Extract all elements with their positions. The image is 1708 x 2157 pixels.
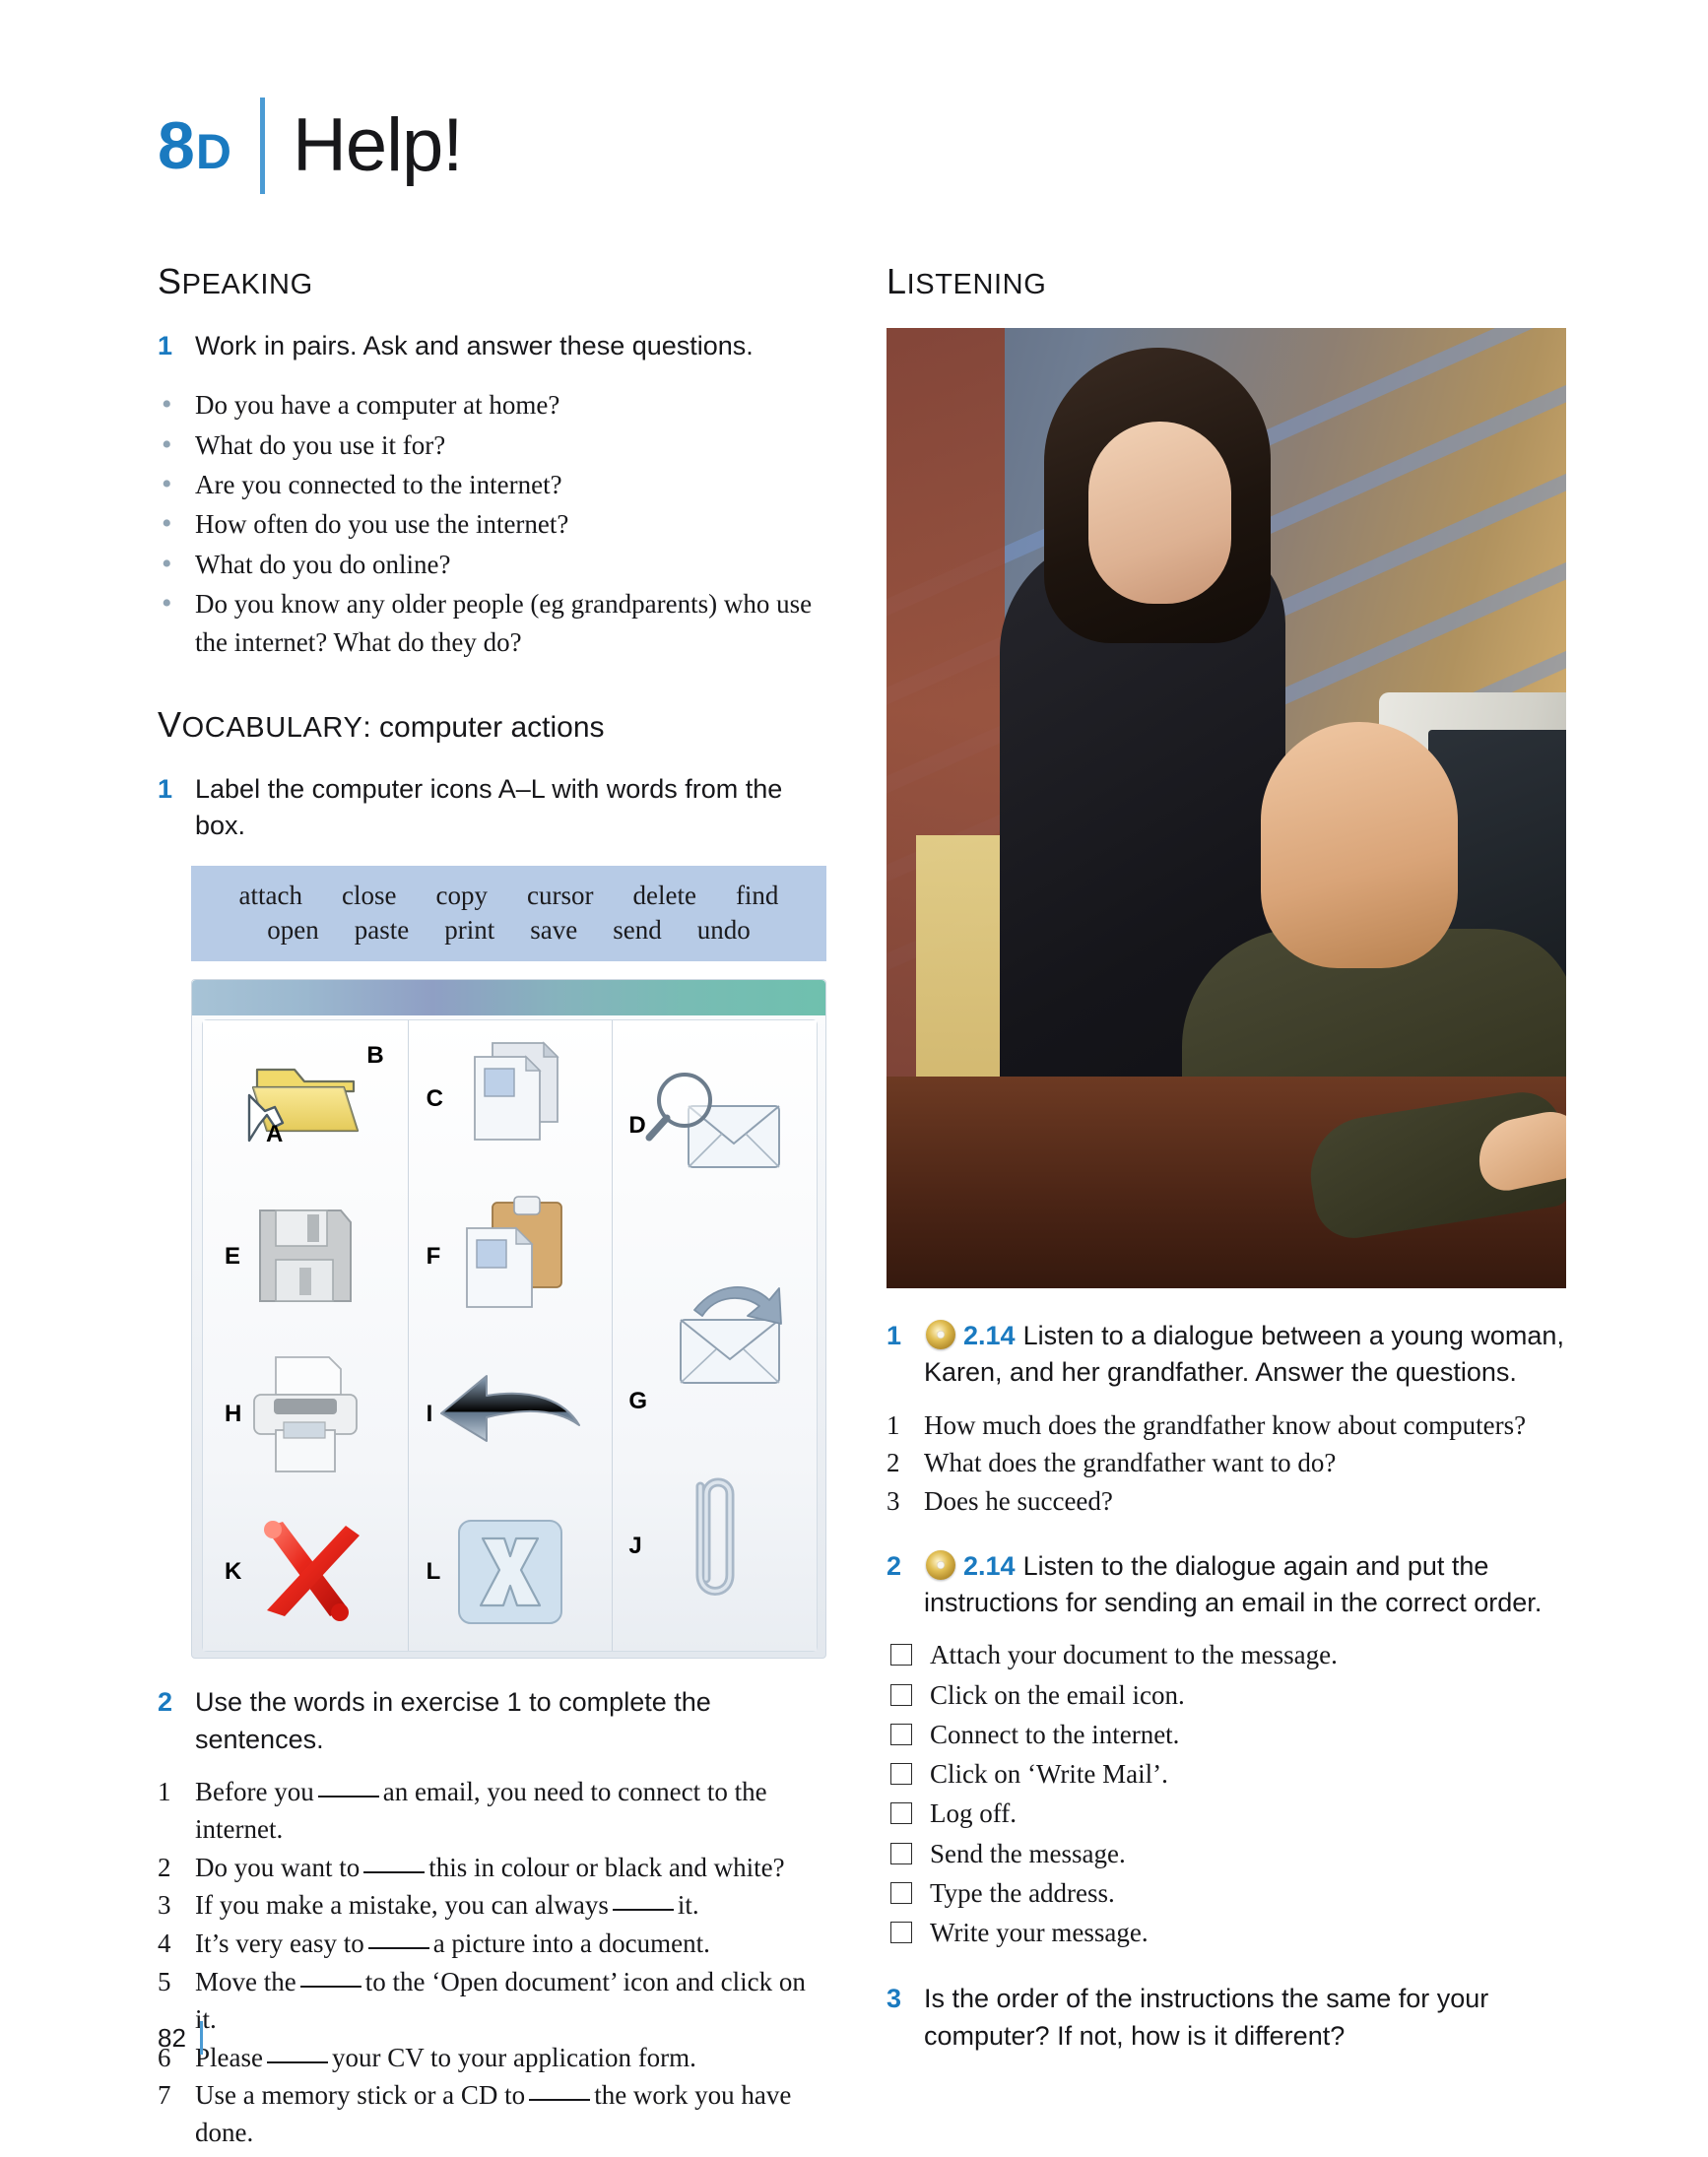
list-item: • Are you connected to the internet?	[158, 466, 827, 503]
icon-letter-G: G	[628, 1388, 647, 1415]
word-chip: attach	[239, 879, 302, 913]
question-text: How often do you use the internet?	[195, 505, 827, 543]
instruction-step-text: Attach your document to the message.	[930, 1637, 1338, 1673]
word-bank-box: attach close copy cursor delete find ope…	[191, 866, 826, 961]
word-bank-row: attach close copy cursor delete find	[191, 879, 826, 913]
question-text: Are you connected to the internet?	[195, 466, 827, 503]
word-chip: delete	[632, 879, 695, 913]
question-text: What do you use it for?	[195, 426, 827, 464]
icon-letter-C: C	[427, 1085, 443, 1113]
icon-letter-K: K	[225, 1558, 241, 1586]
list-item: 4 It’s very easy toa picture into a docu…	[158, 1926, 827, 1963]
item-number: 3	[887, 1483, 924, 1521]
list-item: Log off.	[887, 1796, 1566, 1832]
textbook-page: 8 D Help! SPEAKING 1 Work in pairs. Ask …	[0, 0, 1708, 2157]
bullet-dot-icon: •	[158, 585, 195, 661]
sentence-pre: It’s very easy to	[195, 1928, 364, 1958]
vocabulary-exercise-1: 1 Label the computer icons A–L with word…	[158, 771, 827, 845]
icon-cell-copy: C	[409, 1020, 613, 1178]
word-chip: save	[530, 913, 577, 948]
computer-icons-panel: B A	[191, 979, 826, 1659]
red-cross-delete-icon	[243, 1514, 367, 1630]
item-number: 1	[158, 1774, 195, 1849]
order-checkbox[interactable]	[890, 1724, 912, 1745]
audio-track-number: 2.14	[963, 1551, 1016, 1581]
list-item: Type the address.	[887, 1875, 1566, 1912]
instruction-step-text: Write your message.	[930, 1915, 1149, 1951]
listening-heading-cap: L	[887, 261, 907, 301]
icon-grid: B A	[202, 1019, 818, 1652]
copy-documents-icon	[441, 1037, 579, 1161]
find-envelope-magnifier-icon	[641, 1067, 789, 1185]
word-chip: find	[736, 879, 779, 913]
icon-letter-A: A	[266, 1121, 283, 1148]
list-item: Connect to the internet.	[887, 1717, 1566, 1753]
instruction-step-text: Send the message.	[930, 1836, 1126, 1872]
listening-question-list: 1 How much does the grandfather know abo…	[887, 1407, 1566, 1521]
word-chip: close	[342, 879, 396, 913]
sentence-post: this in colour or black and white?	[428, 1853, 784, 1882]
answer-blank[interactable]	[613, 1894, 674, 1911]
instruction-step-text: Click on the email icon.	[930, 1677, 1185, 1714]
icon-letter-D: D	[628, 1112, 645, 1140]
icon-cell-close-x: L	[409, 1493, 613, 1651]
send-envelope-arrow-icon	[641, 1276, 789, 1395]
answer-blank[interactable]	[363, 1857, 425, 1873]
list-item: Write your message.	[887, 1915, 1566, 1951]
exercise-number: 2	[887, 1548, 924, 1622]
icon-letter-J: J	[628, 1533, 641, 1560]
icon-letter-F: F	[427, 1243, 441, 1271]
audio-cd-icon[interactable]	[926, 1320, 955, 1349]
word-chip: print	[444, 913, 494, 948]
order-checkbox[interactable]	[890, 1843, 912, 1864]
word-chip: open	[267, 913, 318, 948]
paperclip-icon	[671, 1472, 759, 1620]
question-text: Do you have a computer at home?	[195, 386, 827, 424]
bullet-dot-icon: •	[158, 546, 195, 583]
list-item: Attach your document to the message.	[887, 1637, 1566, 1673]
item-number: 4	[158, 1926, 195, 1963]
word-chip: undo	[697, 913, 751, 948]
item-number: 3	[158, 1887, 195, 1925]
list-item: • What do you use it for?	[158, 426, 827, 464]
item-number: 7	[158, 2077, 195, 2152]
icon-column-3: D G	[612, 1020, 817, 1651]
ordering-checkbox-list: Attach your document to the message. Cli…	[887, 1637, 1566, 1951]
right-column: LISTENING 1	[887, 261, 1566, 2070]
folio-rule	[200, 2021, 203, 2055]
list-item: • What do you do online?	[158, 546, 827, 583]
icon-cell-find: D	[613, 1020, 817, 1230]
vocabulary-heading-tail: : computer actions	[362, 711, 604, 744]
question-text: Do you know any older people (eg grandpa…	[195, 585, 827, 661]
list-item: Click on ‘Write Mail’.	[887, 1756, 1566, 1793]
exercise-number: 1	[887, 1318, 924, 1392]
sentence-pre: Use a memory stick or a CD to	[195, 2080, 525, 2110]
word-chip: send	[613, 913, 662, 948]
instruction-step-text: Type the address.	[930, 1875, 1115, 1912]
order-checkbox[interactable]	[890, 1922, 912, 1943]
list-item: • Do you have a computer at home?	[158, 386, 827, 424]
list-item: 1 Before youan email, you need to connec…	[158, 1774, 827, 1849]
icon-cell-folder: B A	[203, 1020, 408, 1178]
answer-blank[interactable]	[368, 1932, 429, 1949]
sentence-pre: Move the	[195, 1967, 296, 1996]
bullet-dot-icon: •	[158, 505, 195, 543]
answer-blank[interactable]	[267, 2047, 328, 2063]
exercise-number: 1	[158, 328, 195, 364]
sentence-post: a picture into a document.	[433, 1928, 710, 1958]
icon-letter-H: H	[225, 1401, 241, 1428]
exercise-number: 1	[158, 771, 195, 845]
fill-in-sentences-list: 1 Before youan email, you need to connec…	[158, 1774, 827, 2152]
list-item: 2 Do you want tothis in colour or black …	[158, 1850, 827, 1887]
question-text: How much does the grandfather know about…	[924, 1407, 1566, 1445]
vocabulary-heading-rest: OCABULARY	[182, 712, 363, 744]
order-checkbox[interactable]	[890, 1882, 912, 1904]
icon-cell-paste: F	[409, 1178, 613, 1336]
list-item: 3 Does he succeed?	[887, 1483, 1566, 1521]
speaking-heading-cap: S	[158, 261, 182, 301]
question-text: What does the grandfather want to do?	[924, 1445, 1566, 1482]
order-checkbox[interactable]	[890, 1802, 912, 1824]
audio-track-number: 2.14	[963, 1321, 1016, 1350]
order-checkbox[interactable]	[890, 1644, 912, 1666]
list-item: 2 What does the grandfather want to do?	[887, 1445, 1566, 1482]
vocabulary-heading-cap: V	[158, 704, 182, 745]
word-chip: cursor	[527, 879, 593, 913]
listening-photo	[887, 328, 1566, 1288]
sentence-pre: Please	[195, 2043, 263, 2072]
list-item: 7 Use a memory stick or a CD tothe work …	[158, 2077, 827, 2152]
answer-blank[interactable]	[529, 2084, 590, 2101]
exercise-number: 3	[887, 1981, 924, 2055]
icon-letter-E: E	[225, 1243, 240, 1271]
question-text: What do you do online?	[195, 546, 827, 583]
vocabulary-exercise-2: 2 Use the words in exercise 1 to complet…	[158, 1684, 827, 1758]
close-x-button-icon	[449, 1513, 571, 1631]
item-number: 2	[887, 1445, 924, 1482]
instruction-step-text: Click on ‘Write Mail’.	[930, 1756, 1168, 1793]
answer-blank[interactable]	[300, 1971, 361, 1988]
unit-number: 8	[158, 107, 194, 184]
icon-column-1: B A	[203, 1020, 408, 1651]
list-item: 1 How much does the grandfather know abo…	[887, 1407, 1566, 1445]
speaking-heading-rest: PEAKING	[182, 269, 313, 300]
instruction-step-text: Log off.	[930, 1796, 1017, 1832]
exercise-instruction: Work in pairs. Ask and answer these ques…	[195, 328, 754, 364]
icon-cell-floppy: E	[203, 1178, 408, 1336]
list-item: • How often do you use the internet?	[158, 505, 827, 543]
listening-heading: LISTENING	[887, 261, 1566, 302]
speaking-exercise-1: 1 Work in pairs. Ask and answer these qu…	[158, 328, 827, 364]
unit-code: 8 D	[158, 107, 230, 184]
left-column: SPEAKING 1 Work in pairs. Ask and answer…	[158, 261, 827, 2153]
list-item: 6 Pleaseyour CV to your application form…	[158, 2040, 827, 2077]
listening-exercise-3: 3 Is the order of the instructions the s…	[887, 1981, 1566, 2055]
photo-woman-face	[1088, 422, 1231, 604]
bullet-dot-icon: •	[158, 466, 195, 503]
bullet-dot-icon: •	[158, 386, 195, 424]
listening-heading-rest: ISTENING	[907, 269, 1047, 300]
open-folder-icon	[231, 1040, 379, 1158]
list-item: Click on the email icon.	[887, 1677, 1566, 1714]
word-chip: copy	[436, 879, 488, 913]
bullet-dot-icon: •	[158, 426, 195, 464]
page-title: Help!	[293, 102, 462, 188]
icon-cell-red-cross: K	[203, 1493, 408, 1651]
undo-arrow-icon	[431, 1360, 589, 1469]
listening-exercise-2: 2 2.14Listen to the dialogue again and p…	[887, 1548, 1566, 1622]
page-header: 8 D Help!	[158, 94, 462, 197]
order-checkbox[interactable]	[890, 1684, 912, 1706]
word-chip: paste	[355, 913, 409, 948]
icon-column-2: C F	[408, 1020, 613, 1651]
exercise-instruction: Is the order of the instructions the sam…	[924, 1981, 1566, 2055]
speaking-question-list: • Do you have a computer at home? • What…	[158, 386, 827, 661]
list-item: Send the message.	[887, 1836, 1566, 1872]
word-bank-row: open paste print save send undo	[191, 913, 826, 948]
icon-letter-L: L	[427, 1558, 441, 1586]
item-number: 1	[887, 1407, 924, 1445]
sentence-post: your CV to your application form.	[332, 2043, 696, 2072]
question-text: Does he succeed?	[924, 1483, 1566, 1521]
header-divider-rule	[260, 98, 265, 194]
exercise-instruction: Use the words in exercise 1 to complete …	[195, 1684, 827, 1758]
sentence-post: it.	[678, 1890, 699, 1920]
exercise-instruction: Listen to the dialogue again and put the…	[924, 1551, 1542, 1617]
list-item: 5 Move theto the ‘Open document’ icon an…	[158, 1964, 827, 2039]
icon-cell-send: G	[613, 1231, 817, 1441]
sentence-pre: Do you want to	[195, 1853, 360, 1882]
item-number: 2	[158, 1850, 195, 1887]
exercise-instruction: Listen to a dialogue between a young wom…	[924, 1321, 1564, 1387]
icon-cell-undo: I	[409, 1336, 613, 1493]
exercise-instruction: Label the computer icons A–L with words …	[195, 771, 827, 845]
instruction-step-text: Connect to the internet.	[930, 1717, 1179, 1753]
speaking-heading: SPEAKING	[158, 261, 827, 302]
answer-blank[interactable]	[318, 1781, 379, 1797]
floppy-disk-icon	[246, 1199, 364, 1315]
list-item: • Do you know any older people (eg grand…	[158, 585, 827, 661]
sentence-pre: Before you	[195, 1777, 314, 1806]
order-checkbox[interactable]	[890, 1763, 912, 1785]
audio-cd-icon[interactable]	[926, 1550, 955, 1580]
printer-icon	[238, 1351, 372, 1477]
page-folio: 82	[158, 2021, 203, 2055]
icon-letter-B: B	[366, 1042, 383, 1070]
exercise-number: 2	[158, 1684, 195, 1758]
icon-cell-attach: J	[613, 1441, 817, 1651]
unit-letter: D	[196, 123, 230, 180]
list-item: 3 If you make a mistake, you can alwaysi…	[158, 1887, 827, 1925]
vocabulary-heading: VOCABULARY: computer actions	[158, 704, 827, 746]
page-number: 82	[158, 2023, 186, 2054]
photo-man-head	[1261, 722, 1458, 968]
icon-letter-I: I	[427, 1401, 433, 1428]
panel-gradient-header	[192, 980, 825, 1015]
listening-exercise-1: 1 2.14Listen to a dialogue between a you…	[887, 1318, 1566, 1392]
icon-cell-printer: H	[203, 1336, 408, 1493]
sentence-pre: If you make a mistake, you can always	[195, 1890, 609, 1920]
paste-clipboard-icon	[441, 1195, 579, 1319]
